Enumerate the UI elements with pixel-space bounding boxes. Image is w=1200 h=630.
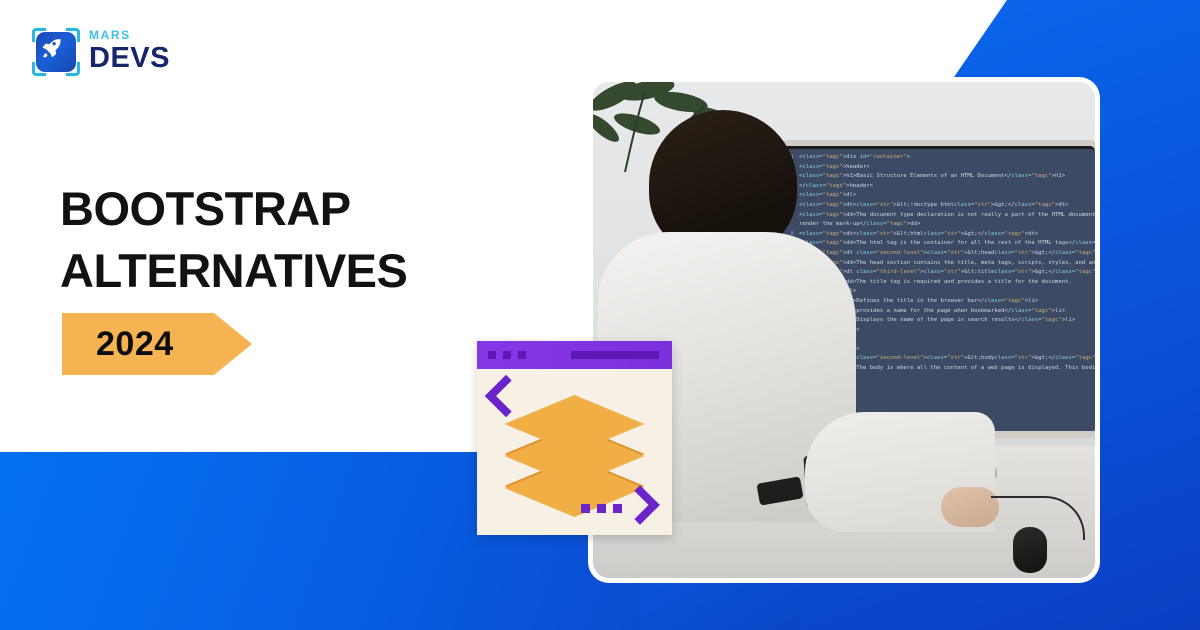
code-line: render the mark-up</class="tagc">dd> [782,220,1095,230]
code-line: 8 <class="tagc">dt>class="str">&lt;htmlc… [782,230,1095,240]
illustration-body [477,369,672,535]
code-line: 5<class="tagc">dl> [782,191,1095,201]
mouse [1013,527,1047,573]
code-line: 1<class="tagc">div id="container"> [782,153,1095,163]
ellipsis-dot [597,504,606,513]
window-dot [518,351,526,359]
code-line: 6 <class="tagc">dt>class="str">&lt;!doct… [782,201,1095,211]
layer-top [505,395,645,453]
code-line-text: </class="tagc">header> [799,182,1095,192]
window-dot [488,351,496,359]
code-line-text: <class="tagc">header> [799,163,1095,173]
code-line: 4</class="tagc">header> [782,182,1095,192]
logo-wordmark: MARS DEVS [89,29,184,74]
code-line: 7 <class="tagc">dd>The document type dec… [782,211,1095,221]
code-line-text: <class="tagc">dt>class="str">&lt;!doctyp… [799,201,1095,211]
code-line-text: <class="tagc">dl> [799,191,1095,201]
code-window-illustration [477,341,672,535]
window-dots-icon [488,351,526,359]
logo-mark [32,28,80,76]
poster-canvas: MARS DEVS BOOTSTRAP ALTERNATIVES 2024 [0,0,1200,630]
code-line-text: <class="tagc">dd>The html tag is the con… [799,239,1095,249]
code-line: 3 <class="tagc">h1>Basic Structure Eleme… [782,172,1095,182]
code-line-text: <class="tagc">dd>The document type decla… [799,211,1095,221]
headline-line-1: BOOTSTRAP [60,182,351,235]
code-line: 9 <class="tagc">dd>The html tag is the c… [782,239,1095,249]
code-line-text: <class="tagc">dd>The head section contai… [799,259,1095,269]
brand-logo[interactable]: MARS DEVS [32,25,182,80]
year-badge-label: 2024 [96,325,174,364]
year-badge: 2024 [62,313,252,375]
page-title: BOOTSTRAP ALTERNATIVES [60,178,490,302]
code-line-text: <class="tagc">div id="container"> [799,153,1095,163]
code-line-text: <class="tagc">dt class="second-level">cl… [799,249,1095,259]
ellipsis-icon [581,504,622,513]
stacked-layers-graphic [505,395,645,515]
rocket-icon [40,36,64,60]
logo-mars-text: MARS [89,29,184,42]
code-line-text: <class="tagc">h1>Basic Structure Element… [799,172,1095,182]
code-line-text: render the mark-up</class="tagc">dd> [799,220,1095,230]
logo-devs-text: DEVS [89,43,184,74]
code-line: 2<class="tagc">header> [782,163,1095,173]
address-bar [571,351,659,359]
code-line-text: <class="tagc">dt>class="str">&lt;htmlcla… [799,230,1095,240]
headline-line-2: ALTERNATIVES [60,240,490,302]
illustration-title-bar [477,341,672,369]
ellipsis-dot [581,504,590,513]
window-dot [503,351,511,359]
